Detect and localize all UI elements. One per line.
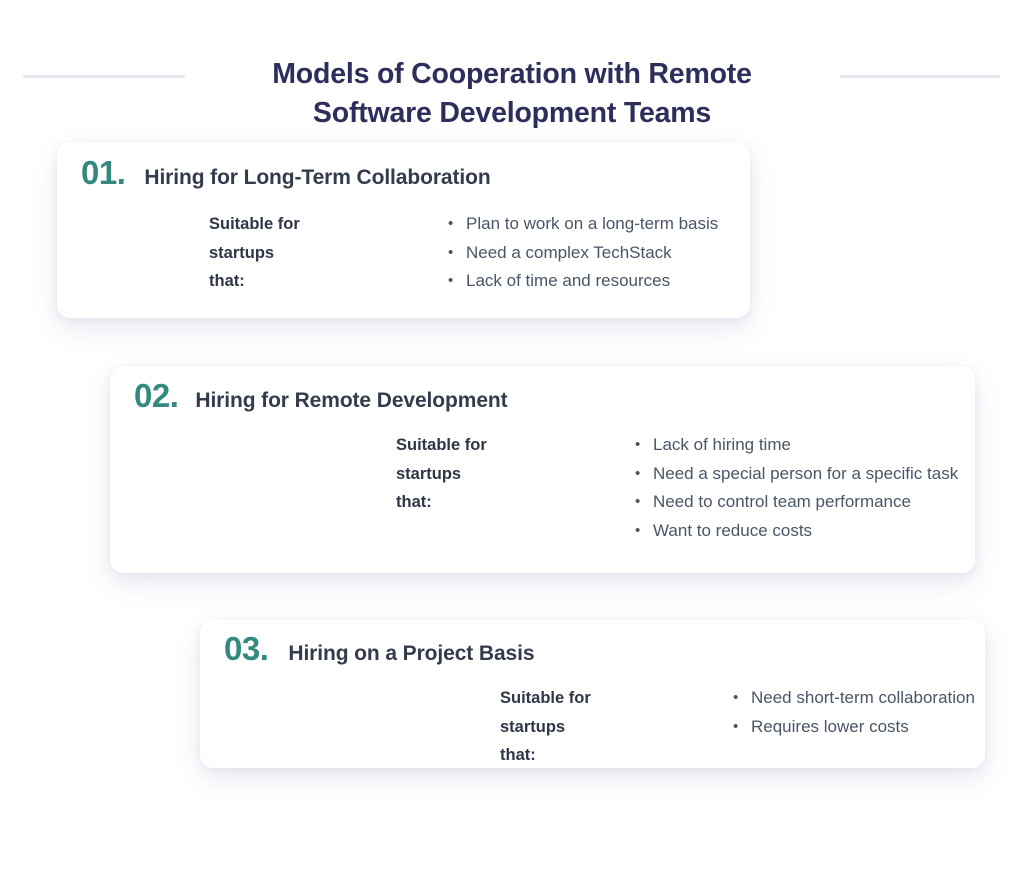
model-card-03: 03. Hiring on a Project Basis Suitable f…	[200, 620, 985, 768]
criteria-list: Plan to work on a long-term basis Need a…	[447, 210, 718, 296]
criteria-list: Need short-term collaboration Requires l…	[732, 684, 975, 741]
page-title: Models of Cooperation with Remote Softwa…	[0, 55, 1024, 133]
card-header: 02. Hiring for Remote Development	[110, 366, 975, 412]
card-body: Suitable for startups that: Lack of hiri…	[110, 412, 975, 545]
infographic-header: Models of Cooperation with Remote Softwa…	[0, 0, 1024, 122]
list-item: Plan to work on a long-term basis	[447, 210, 718, 239]
card-title: Hiring on a Project Basis	[288, 643, 534, 664]
suitable-label: Suitable for startups that:	[500, 684, 650, 770]
suitable-label-line-1: Suitable for startups	[209, 210, 359, 267]
criteria-list: Lack of hiring time Need a special perso…	[634, 431, 958, 545]
card-header: 01. Hiring for Long-Term Collaboration	[57, 142, 750, 189]
card-body: Suitable for startups that: Need short-t…	[200, 665, 985, 770]
page-title-line-1: Models of Cooperation with Remote	[0, 55, 1024, 94]
suitable-label-line-1: Suitable for startups	[396, 431, 546, 488]
list-item: Need short-term collaboration	[732, 684, 975, 713]
list-item: Requires lower costs	[732, 713, 975, 742]
card-number: 03.	[224, 632, 268, 665]
suitable-label-line-2: that:	[500, 741, 650, 770]
list-item: Need to control team performance	[634, 488, 958, 517]
list-item: Need a special person for a specific tas…	[634, 460, 958, 489]
suitable-label: Suitable for startups that:	[396, 431, 546, 517]
card-body: Suitable for startups that: Plan to work…	[57, 189, 750, 296]
card-number: 02.	[134, 379, 178, 412]
list-item: Lack of hiring time	[634, 431, 958, 460]
suitable-label-line-1: Suitable for startups	[500, 684, 650, 741]
suitable-label-line-2: that:	[209, 267, 359, 296]
card-title: Hiring for Remote Development	[195, 390, 507, 411]
list-item: Need a complex TechStack	[447, 239, 718, 268]
model-card-01: 01. Hiring for Long-Term Collaboration S…	[57, 142, 750, 318]
card-number: 01.	[81, 156, 125, 189]
suitable-label: Suitable for startups that:	[209, 210, 359, 296]
list-item: Lack of time and resources	[447, 267, 718, 296]
suitable-label-line-2: that:	[396, 488, 546, 517]
model-card-02: 02. Hiring for Remote Development Suitab…	[110, 366, 975, 573]
card-title: Hiring for Long-Term Collaboration	[144, 167, 490, 188]
card-header: 03. Hiring on a Project Basis	[200, 620, 985, 665]
list-item: Want to reduce costs	[634, 517, 958, 546]
page-title-line-2: Software Development Teams	[0, 94, 1024, 133]
